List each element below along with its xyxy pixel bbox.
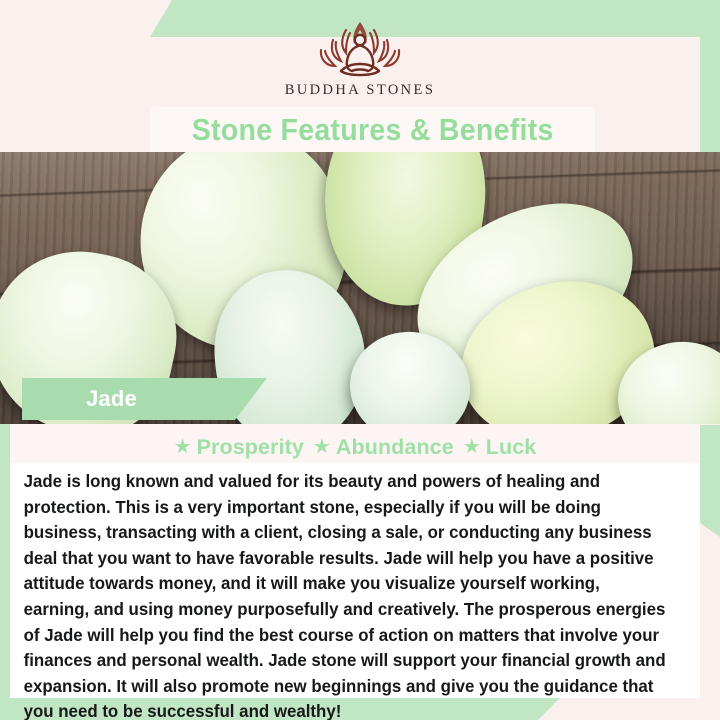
- decor-left-edge-strip: [0, 420, 10, 700]
- star-icon: ★: [463, 437, 481, 457]
- decor-right-lower-strip: [700, 425, 720, 537]
- infographic-page: BUDDHA STONES Stone Features & Benefits …: [0, 0, 720, 720]
- benefit-item-luck: ★ Luck: [463, 435, 537, 460]
- stone-name: Jade: [86, 386, 137, 412]
- title-banner: Stone Features & Benefits: [150, 107, 595, 152]
- content-card: ★ Prosperity ★ Abundance ★ Luck Jade is …: [10, 424, 700, 698]
- description-paragraph: Jade is long known and valued for its be…: [10, 463, 679, 720]
- benefits-row: ★ Prosperity ★ Abundance ★ Luck: [10, 424, 700, 463]
- benefit-label: Luck: [486, 435, 537, 460]
- benefit-item-prosperity: ★ Prosperity: [174, 435, 304, 460]
- benefit-label: Abundance: [336, 435, 454, 460]
- star-icon: ★: [174, 437, 192, 457]
- star-icon: ★: [313, 437, 331, 457]
- brand-name: BUDDHA STONES: [0, 82, 720, 99]
- lotus-meditation-figure-icon: [301, 14, 419, 80]
- benefit-item-abundance: ★ Abundance: [313, 435, 454, 460]
- brand-logo: BUDDHA STONES: [0, 14, 720, 99]
- benefit-label: Prosperity: [197, 435, 304, 460]
- stone-name-tag: Jade: [22, 378, 267, 420]
- page-title: Stone Features & Benefits: [192, 112, 554, 148]
